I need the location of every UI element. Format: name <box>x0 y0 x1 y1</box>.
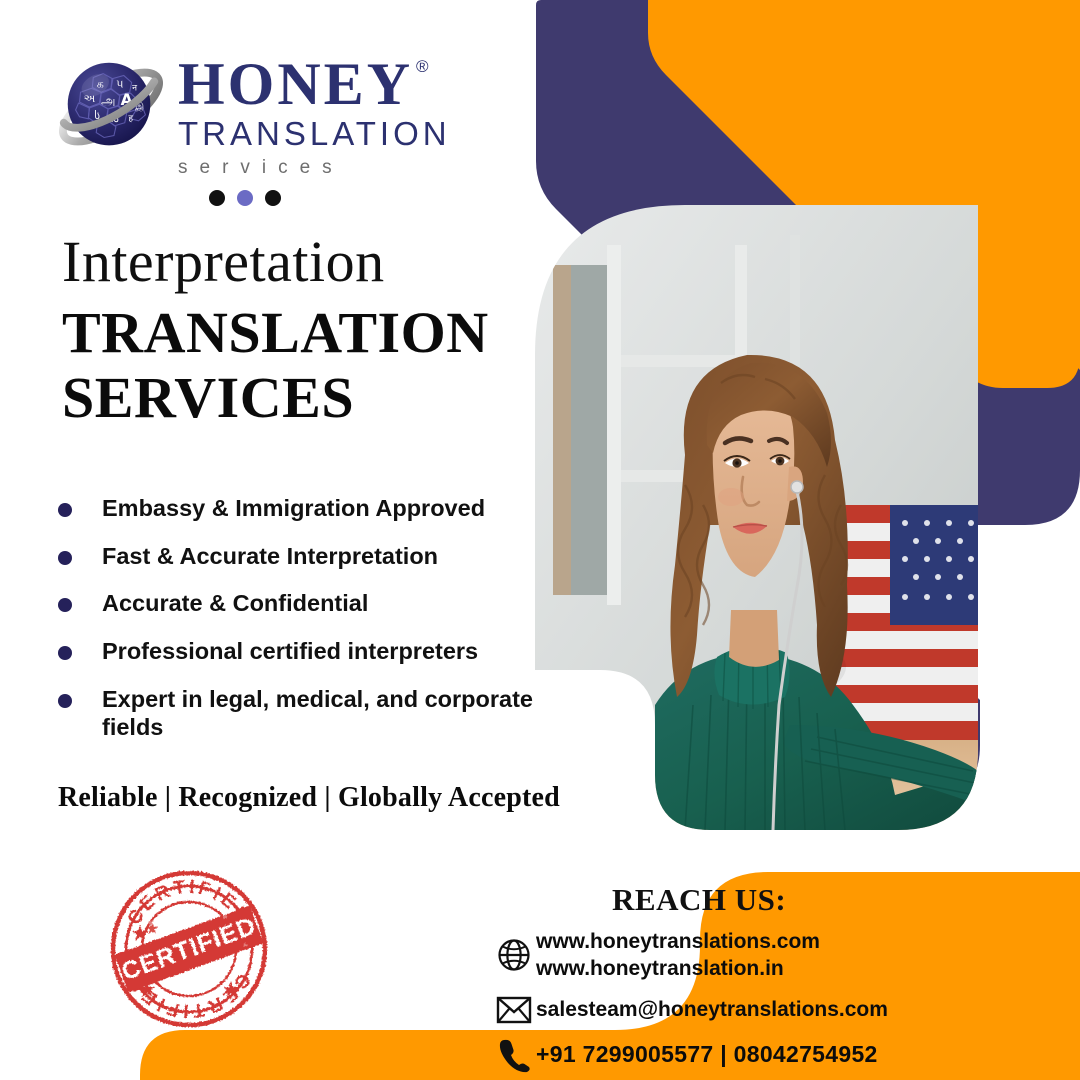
website-line-1: www.honeytranslations.com <box>536 930 820 953</box>
tagline: Reliable | Recognized | Globally Accepte… <box>58 782 560 814</box>
poster-canvas: க ૫ न અ அ A இ ს న ह HONEY ® TRANSLATION … <box>0 0 1080 1080</box>
decorative-dots <box>209 190 281 206</box>
logo-line-translation: TRANSLATION <box>178 115 451 153</box>
svg-text:૫: ૫ <box>116 77 123 90</box>
contact-website-text: www.honeytranslations.com www.honeytrans… <box>536 928 820 983</box>
logo-wordmark: HONEY ® TRANSLATION services <box>178 48 451 179</box>
headline-main-line: TRANSLATION SERVICES <box>62 301 532 431</box>
dot-2 <box>237 190 253 206</box>
interpreter-photo <box>535 205 978 830</box>
headline-script-line: Interpretation <box>62 232 532 293</box>
dot-1 <box>209 190 225 206</box>
contact-email-text: salesteam@honeytranslations.com <box>536 996 888 1023</box>
phone-icon <box>492 1037 536 1073</box>
registered-trademark-icon: ® <box>416 58 429 75</box>
envelope-icon <box>492 995 536 1025</box>
svg-text:ह: ह <box>128 114 133 124</box>
globe-icon <box>492 937 536 973</box>
list-item: Fast & Accurate Interpretation <box>55 542 535 571</box>
dot-3 <box>265 190 281 206</box>
contact-details: www.honeytranslations.com www.honeytrans… <box>492 928 1052 1080</box>
feature-bullet-list: Embassy & Immigration Approved Fast & Ac… <box>55 494 535 761</box>
list-item: Professional certified interpreters <box>55 637 535 666</box>
brand-logo: க ૫ न અ அ A இ ს న ह HONEY ® TRANSLATION … <box>52 48 451 179</box>
contact-row-phone[interactable]: +91 7299005577 | 08042754952 <box>492 1037 1052 1073</box>
headline-block: Interpretation TRANSLATION SERVICES <box>62 232 532 431</box>
svg-text:அ: அ <box>101 94 115 109</box>
list-item: Expert in legal, medical, and corporate … <box>55 685 535 742</box>
website-line-2: www.honeytranslation.in <box>536 957 784 980</box>
list-item: Embassy & Immigration Approved <box>55 494 535 523</box>
contact-phone-text: +91 7299005577 | 08042754952 <box>536 1040 878 1070</box>
logo-brand-name: HONEY <box>178 56 413 113</box>
globe-languages-icon: க ૫ न અ அ A இ ს న ह <box>52 48 170 166</box>
reach-us-heading: REACH US: <box>612 882 786 918</box>
certified-stamp-icon: CERTIFIED CERTIFIED CERTIFIED <box>105 865 273 1033</box>
interpreter-photo-image <box>535 205 978 830</box>
logo-line-services: services <box>178 157 451 179</box>
contact-row-website[interactable]: www.honeytranslations.com www.honeytrans… <box>492 928 1052 983</box>
list-item: Accurate & Confidential <box>55 589 535 618</box>
contact-row-email[interactable]: salesteam@honeytranslations.com <box>492 995 1052 1025</box>
